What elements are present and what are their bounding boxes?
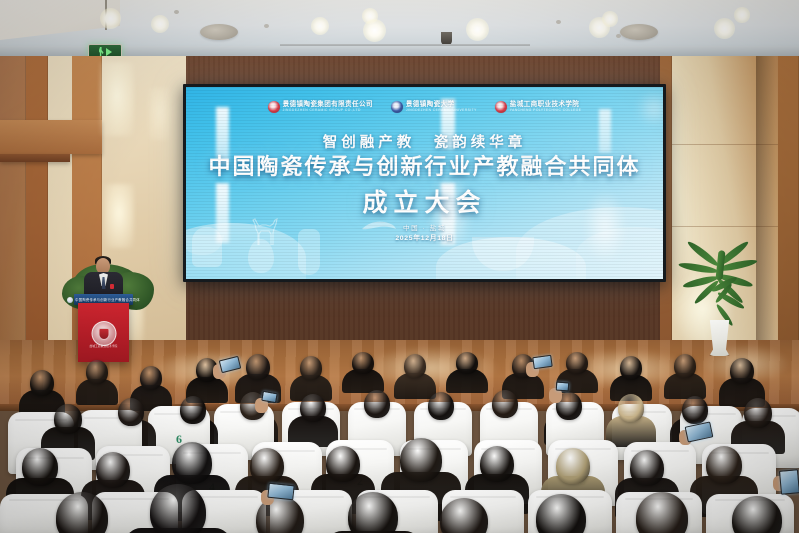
audience-person-head [140,366,162,390]
audience-person-head [118,398,144,426]
auditorium-photo: 景德镇陶瓷集团有限责任公司JINGDEZHEN CERAMIC GROUP CO… [0,0,799,533]
running-man-icon [99,47,104,56]
audience-person-head [180,396,206,424]
ceiling-fixture-icon [556,20,561,24]
ceiling-downlight [714,18,735,39]
ceiling-fixture-icon [174,10,179,14]
audience-person-head [400,438,442,482]
blue-crest-logo-icon [391,101,403,113]
audience-person-head [30,370,54,396]
audience-person-head [150,484,206,533]
audience-person-head [86,360,108,384]
red-crest-logo-icon [495,101,507,113]
audience-person-head [674,354,696,378]
arrow-right-icon [106,48,112,56]
audience-person-head [706,446,742,484]
sponsor-logo: 盐城工商职业技术学院YANCHENG POLYTECHNIC COLLEGE [495,101,582,113]
audience-person-head [352,352,374,374]
sponsor-logo-row: 景德镇陶瓷集团有限责任公司JINGDEZHEN CERAMIC GROUP CO… [186,101,663,113]
audience-person-head [172,442,212,484]
sponsor-logo-name-cn: 景德镇陶瓷集团有限责任公司 [283,102,373,109]
ceiling-downlight [734,7,750,23]
sponsor-logo: 景德镇陶瓷大学JINGDEZHEN CERAMIC UNIVERSITY [391,101,477,113]
audience-person-head [456,352,478,374]
screen-event-line: 成立大会 [186,183,663,219]
smartphone[interactable] [267,483,294,501]
podium-banner-text: 中国陶瓷传承与创新行业产教融合共同体 [75,297,140,302]
podium-logo-icon [67,297,73,303]
screen-location: 中国 · 盐城 [186,222,663,232]
audience-person-head [22,448,58,486]
sponsor-logo-name-en: JINGDEZHEN CERAMIC GROUP CO.,LTD [283,109,373,112]
audience-person-head [54,404,82,434]
audience-person-head [556,448,590,484]
audience-person-head [300,394,326,422]
audience-person-head [96,452,130,488]
audience-person-head [364,390,390,418]
audience-person-head [620,356,642,380]
sponsor-logo-name-en: JINGDEZHEN CERAMIC UNIVERSITY [406,109,477,112]
corner-shadow [756,56,776,356]
ceiling-downlight [311,17,329,35]
ceiling-vent-icon [620,24,658,40]
sponsor-logo: 景德镇陶瓷集团有限责任公司JINGDEZHEN CERAMIC GROUP CO… [268,101,373,113]
ceiling-downlight [466,18,489,41]
wall-light-glow [148,88,170,140]
sponsor-logo-name-cn: 景德镇陶瓷大学 [406,102,477,109]
ceiling-vent-icon [200,24,238,40]
smartphone[interactable] [779,469,799,495]
speaker-lapel-badge [110,284,114,289]
smartphone[interactable] [532,355,552,370]
audience-person-head [326,446,360,482]
audience-person-head [618,394,644,422]
sponsor-logo-name-cn: 盐城工商职业技术学院 [510,102,582,109]
wall-beam [0,120,102,154]
audience-person-head [480,446,514,482]
sponsor-logo-name-en: YANCHENG POLYTECHNIC COLLEGE [510,109,582,112]
audience-person-head [246,354,270,380]
wall-panel [48,56,72,356]
ceiling-downlight [363,19,386,42]
audience-person-head [404,354,426,378]
audience-person-head [566,352,588,374]
wall-panel [0,56,26,356]
audience-person-head [428,392,454,420]
wall-beam [0,154,70,162]
audience-person-head [730,358,754,384]
audience-person-head [300,356,322,380]
ceiling-downlight [100,8,121,29]
ceiling-downlight [602,11,618,27]
institution-crest-icon [91,321,116,346]
screen-date: 2025年12月18日 [186,232,663,242]
smartphone[interactable] [556,382,570,392]
audience-person-head [492,390,518,418]
ceiling-downlight [151,15,169,33]
screen-title-line: 中国陶瓷传承与创新行业产教融合共同体 [186,149,663,181]
audience-person-head [744,398,772,428]
wall-light-glow [104,184,134,248]
led-screen-frame: 景德镇陶瓷集团有限责任公司JINGDEZHEN CERAMIC GROUP CO… [183,84,666,282]
ceiling-fixture-icon [264,24,269,28]
ceiling-fixture-icon [616,34,621,38]
smartphone[interactable] [219,356,242,373]
audience-person-head [682,396,708,424]
audience-area: 6423 [0,352,799,533]
podium-crest-text: 盐城工商职业技术学院 [78,344,129,348]
audience-person-head [630,450,664,486]
wall-panel [26,56,48,356]
led-screen[interactable]: 景德镇陶瓷集团有限责任公司JINGDEZHEN CERAMIC GROUP CO… [186,87,663,279]
red-seal-logo-icon [268,101,280,113]
wall-light-glow [100,62,134,136]
wall-panel [778,56,799,356]
audience-person-head [250,448,284,484]
